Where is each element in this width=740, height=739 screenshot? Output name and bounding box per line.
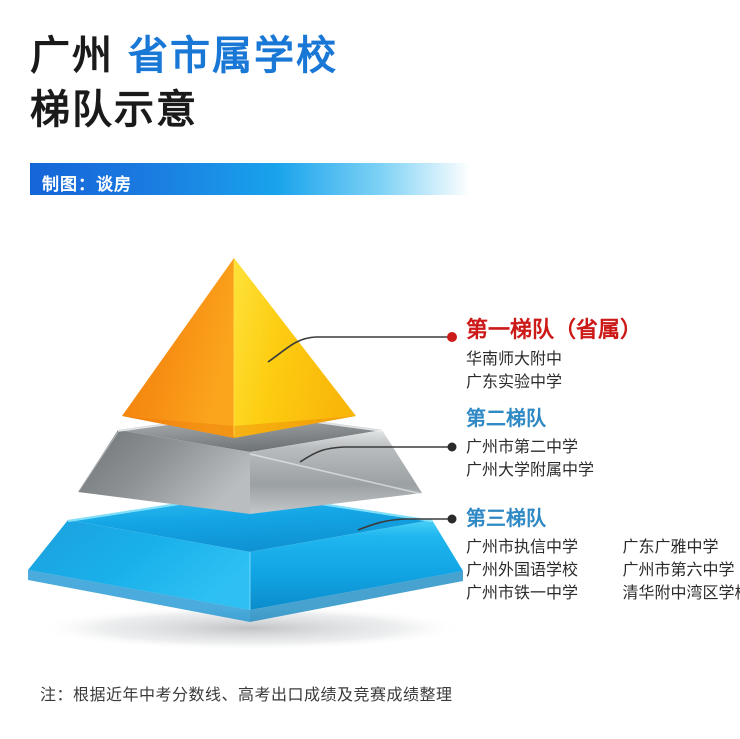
tier-2-label: 第二梯队: [466, 408, 594, 430]
tier-2-schools: 广州市第二中学 广州大学附属中学: [466, 436, 594, 482]
tier-1-block: 第一梯队（省属） 华南师大附中 广东实验中学: [466, 318, 642, 395]
school-name: 广州市铁一中学: [466, 582, 606, 605]
tier-3-block: 第三梯队 广州市执信中学 广东广雅中学 广州外国语学校 广州市第六中学 广州市铁…: [466, 508, 740, 606]
school-row: 广州大学附属中学: [466, 459, 594, 482]
tier-3-label: 第三梯队: [466, 508, 740, 530]
school-name: 广州市第二中学: [466, 436, 578, 459]
school-name: 华南师大附中: [466, 348, 562, 371]
connector-dot-tier-2: [448, 443, 457, 452]
pyramid-level-1-orange: [122, 258, 356, 438]
title-highlight: 省市属学校: [128, 34, 338, 78]
title-city: 广州: [30, 34, 114, 78]
footnote: 注：根据近年中考分数线、高考出口成绩及竞赛成绩整理: [40, 681, 453, 705]
page-title-line-1: 广州省市属学校: [30, 36, 338, 76]
school-name: 清华附中湾区学校: [622, 582, 740, 605]
tier-2-block: 第二梯队 广州市第二中学 广州大学附属中学: [466, 408, 594, 482]
school-name: 广州市执信中学: [466, 536, 606, 559]
school-row: 广州市铁一中学 清华附中湾区学校: [466, 582, 740, 605]
tier-1-schools: 华南师大附中 广东实验中学: [466, 348, 642, 394]
school-name: 广东广雅中学: [622, 536, 718, 559]
pyramid-diagram: [0, 230, 500, 650]
school-name: 广东实验中学: [466, 371, 562, 394]
school-name: 广州大学附属中学: [466, 459, 594, 482]
tier-1-label: 第一梯队（省属）: [466, 318, 642, 342]
byline-credit: 制图：谈房: [42, 170, 132, 195]
school-row: 广州市第二中学: [466, 436, 594, 459]
infographic-canvas: 广州省市属学校 梯队示意 制图：谈房: [0, 0, 740, 739]
school-row: 广州市执信中学 广东广雅中学: [466, 536, 740, 559]
tier-3-schools: 广州市执信中学 广东广雅中学 广州外国语学校 广州市第六中学 广州市铁一中学 清…: [466, 536, 740, 606]
school-row: 广州外国语学校 广州市第六中学: [466, 559, 740, 582]
school-name: 广州外国语学校: [466, 559, 606, 582]
school-row: 广东实验中学: [466, 371, 642, 394]
school-row: 华南师大附中: [466, 348, 642, 371]
connector-dot-tier-1: [447, 332, 457, 342]
school-name: 广州市第六中学: [622, 559, 734, 582]
connector-dot-tier-3: [448, 515, 457, 524]
page-title-line-2: 梯队示意: [30, 90, 198, 130]
